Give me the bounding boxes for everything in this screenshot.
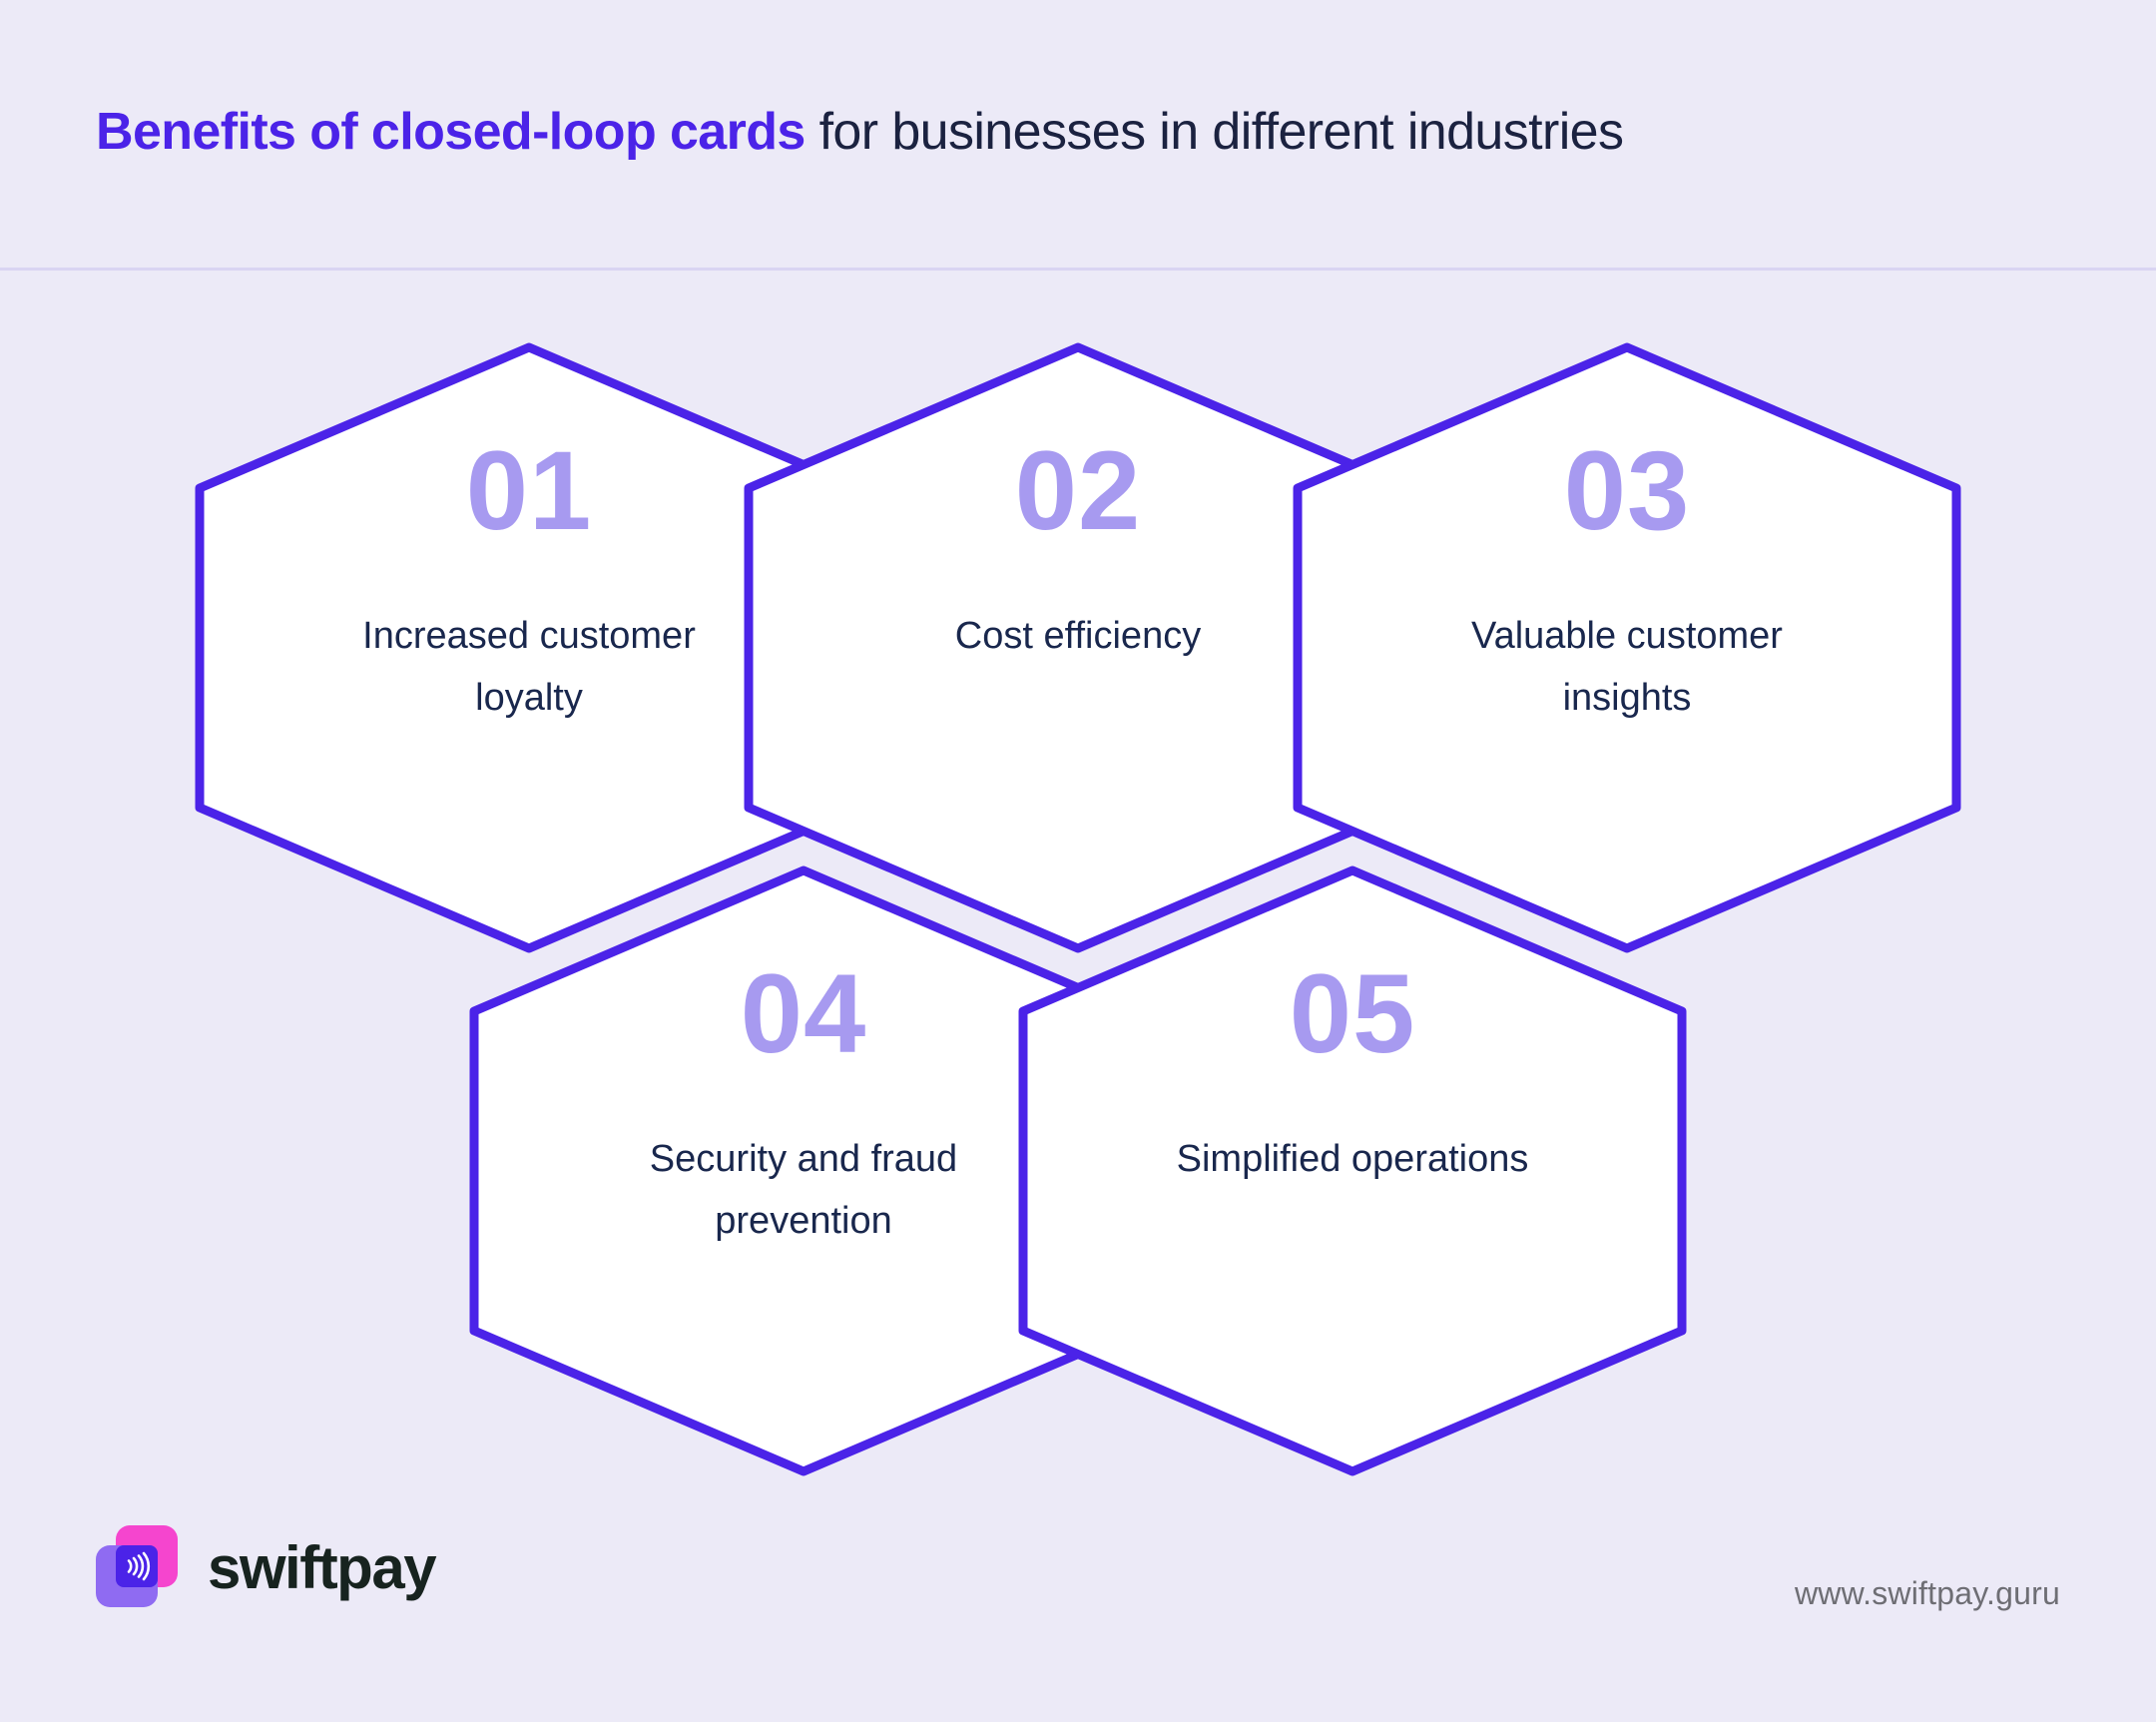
hexagon-shape-03[interactable]: [1298, 347, 1956, 948]
hexagon-outlines: [0, 289, 2156, 1487]
logo-mark: [96, 1525, 182, 1611]
website-url[interactable]: www.swiftpay.guru: [1795, 1573, 2060, 1613]
contactless-nfc-icon: [116, 1545, 158, 1587]
honeycomb-diagram: 01 Increased customer loyalty 02 Cost ef…: [0, 289, 2156, 1487]
hexagon-shape-05[interactable]: [1023, 870, 1682, 1471]
page-title-rest: for businesses in different industries: [806, 103, 1624, 161]
page-title: Benefits of closed-loop cards for busine…: [96, 100, 1623, 164]
brand-name: swiftpay: [208, 1538, 435, 1598]
page-title-accent: Benefits of closed-loop cards: [96, 103, 806, 161]
brand-logo[interactable]: swiftpay: [96, 1525, 435, 1611]
header-divider: [0, 268, 2156, 271]
header: Benefits of closed-loop cards for busine…: [0, 0, 2156, 268]
